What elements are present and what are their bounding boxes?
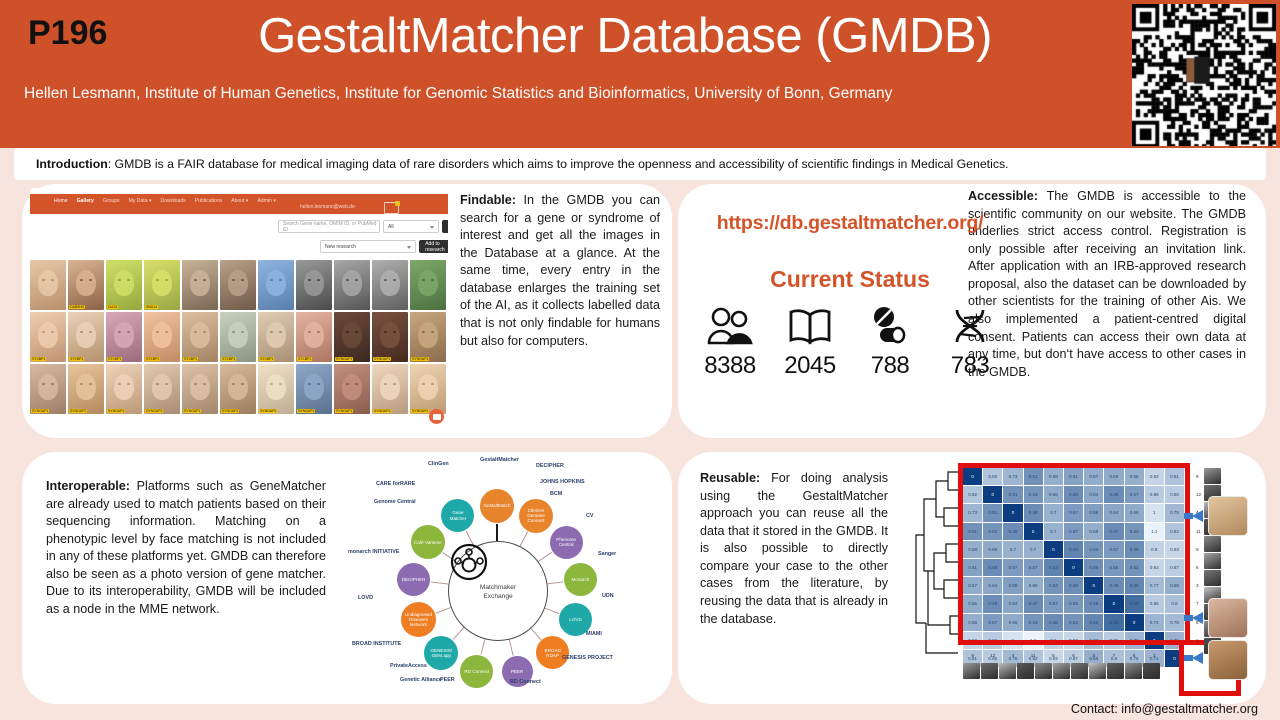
stat-value: 783 (951, 352, 990, 380)
arrow-tail-2 (1184, 615, 1193, 621)
partner-logo-bcm: BCM (550, 492, 562, 498)
gene-label: SYNGAP1 (69, 409, 87, 413)
app-user-menu[interactable]: hellen.lesmann@web.de (300, 204, 355, 210)
eye-shape (203, 383, 206, 385)
face-shape (342, 322, 362, 348)
eye-shape (355, 279, 358, 281)
heatmap-cell: 0.48 (1104, 577, 1123, 594)
gene-label: STXBP1 (145, 357, 160, 361)
gene-label: SYNGAP1 (373, 357, 391, 361)
gene-label: STXBP1 (31, 357, 46, 361)
face-thumbnail (1071, 663, 1088, 679)
heatmap-cell: 0.7 (1003, 541, 1022, 558)
face-shape (342, 374, 362, 400)
partner-logo-genesis-project: GENESIS PROJECT (562, 656, 613, 662)
eye-shape (165, 279, 168, 281)
mme-hub: MatchmakerExchange (448, 541, 548, 641)
heatmap-cell: 0.66 (1104, 468, 1123, 485)
heatmap-col-label: 6 (1064, 653, 1083, 658)
eye-shape (194, 383, 197, 385)
heatmap-cell: 0.64 (1104, 504, 1123, 521)
query-face-2 (1208, 598, 1248, 638)
heatmap-row-label: 5 (1196, 541, 1201, 558)
messages-icon[interactable] (384, 202, 399, 214)
partner-logo-udn: UDN (602, 594, 614, 600)
heatmap-cell: 0.45 (1084, 614, 1103, 631)
eye-shape (127, 279, 130, 281)
face-shape (304, 270, 324, 296)
face-thumbnail (999, 663, 1016, 679)
gene-label: STXBP1 (221, 357, 236, 361)
heatmap-cell: 0.51 (1003, 486, 1022, 503)
gestaltmatcher-heatmap: 00.820.730.510.680.610.670.660.680.920.8… (908, 458, 1256, 698)
face-shape (304, 374, 324, 400)
eye-shape (156, 279, 159, 281)
chat-icon[interactable] (429, 409, 444, 424)
gallery-thumbnail[interactable]: SYNGAP1 (410, 312, 446, 362)
eye-shape (89, 331, 92, 333)
gene-label: SYNGAP1 (31, 409, 49, 413)
eye-shape (346, 383, 349, 385)
gallery-thumbnail[interactable]: SYNGAP1 (68, 364, 104, 414)
eye-shape (422, 279, 425, 281)
eye-shape (89, 383, 92, 385)
heatmap-cell: 0.47 (1024, 595, 1043, 612)
matchmaker-exchange-diagram: MatchmakerExchange GestaltMatchClinGen G… (340, 456, 660, 700)
heatmap-row-label: 7 (1196, 595, 1201, 612)
heatmap-col-label: 11 (1024, 653, 1043, 658)
gallery-thumbnail[interactable]: STXBP1 (182, 312, 218, 362)
face-shape (418, 322, 438, 348)
current-status-title: Current Status (690, 266, 1010, 293)
qr-code-icon[interactable] (1132, 4, 1276, 146)
mme-hub-label: MatchmakerExchange (480, 584, 516, 600)
heatmap-cell: 0.57 (983, 614, 1002, 631)
eye-shape (127, 383, 130, 385)
face-thumbnail (981, 663, 998, 679)
heatmap-cell: 0.66 (963, 595, 982, 612)
heatmap-cell: 0.82 (983, 468, 1002, 485)
heatmap-row-label: 1 (1196, 632, 1201, 649)
stat-value: 8388 (704, 352, 755, 380)
partner-logo-miami: MIAMI (586, 632, 602, 638)
eye-shape (431, 331, 434, 333)
heatmap-cell: 0.59 (1003, 577, 1022, 594)
mme-node-phenome-central[interactable]: Phenome Central (550, 526, 583, 559)
partner-logo-care-forrare: CARE forRARE (376, 482, 415, 488)
face-shape (190, 270, 210, 296)
heatmap-cell: 0.86 (983, 632, 1002, 649)
eye-shape (165, 383, 168, 385)
face-shape (76, 374, 96, 400)
face-shape (342, 270, 362, 296)
heatmap-cell: 0 (1024, 523, 1043, 540)
research-select[interactable]: New research (320, 240, 416, 253)
app-nav-home[interactable]: Home (54, 198, 68, 204)
gallery-thumbnail[interactable]: STXBP1 (144, 312, 180, 362)
heatmap-cell: 1 (1003, 632, 1022, 649)
partner-logo-genetic-alliance: Genetic Alliance (400, 678, 442, 684)
gallery-thumbnail[interactable]: SYNGAP1 (410, 364, 446, 414)
app-nav-my-data[interactable]: My Data ▾ (129, 198, 152, 204)
eye-shape (51, 331, 54, 333)
gene-label: SYNGAP1 (183, 409, 201, 413)
heatmap-cell: 0.7 (1024, 541, 1043, 558)
face-shape (418, 270, 438, 296)
heatmap-cell: 0 (963, 468, 982, 485)
heatmap-cell: 0 (1044, 541, 1063, 558)
search-input[interactable]: Search Gene name, OMIM ID, or PubMed ID (278, 220, 380, 233)
app-navbar: HomeGalleryGroupsMy Data ▾DownloadsPubli… (30, 194, 448, 214)
mme-node-undiagnosed-diseases-network[interactable]: Undiagnosed Diseases Network (401, 602, 436, 637)
heatmap-cell: 0.48 (1044, 614, 1063, 631)
heatmap-cell: 0.68 (1125, 468, 1144, 485)
eye-shape (241, 331, 244, 333)
eye-shape (308, 279, 311, 281)
eye-shape (346, 331, 349, 333)
partner-logo-monarch-initiative: monarch INITIATIVE (348, 550, 399, 556)
face-shape (266, 322, 286, 348)
heatmap-cell: 0.29 (1104, 614, 1123, 631)
gallery-thumbnail[interactable] (410, 260, 446, 310)
heatmap-row-label: 9 (1196, 468, 1201, 485)
gallery-thumbnail[interactable] (258, 260, 294, 310)
gene-label: SYNGAP1 (221, 409, 239, 413)
heatmap-row-label: 12 (1196, 486, 1201, 503)
eye-shape (42, 383, 45, 385)
gene-label: STXBP1 (259, 357, 274, 361)
dna-icon (949, 302, 991, 350)
face-shape (114, 374, 134, 400)
heatmap-cell: 0.7 (1044, 504, 1063, 521)
heatmap-cell: 0.66 (983, 541, 1002, 558)
mme-node-clingen-genome-connect[interactable]: ClinGen Genome Connect (519, 499, 553, 533)
heatmap-cell: 0.64 (983, 577, 1002, 594)
face-shape (114, 270, 134, 296)
contact-footer: Contact: info@gestaltmatcher.org (1071, 702, 1258, 716)
heatmap-grid: 00.820.730.510.680.610.670.660.680.920.8… (963, 468, 1184, 667)
arrow-icon-3 (1192, 652, 1203, 664)
introduction-label: Introduction (36, 157, 108, 171)
heatmap-cell: 0.93 (1145, 559, 1164, 576)
heatmap-row-label: 3 (1196, 577, 1201, 594)
eye-shape (279, 331, 282, 333)
heatmap-cell: 0 (1084, 577, 1103, 594)
add-to-research-button[interactable]: Add to research (419, 240, 448, 253)
database-url-link[interactable]: https://db.gestaltmatcher.org/ (690, 212, 1010, 235)
eye-shape (118, 331, 121, 333)
heatmap-col-label: 7 (1104, 653, 1123, 658)
people-icon (706, 302, 754, 350)
gene-label: SYNGAP1 (259, 409, 277, 413)
app-nav-about[interactable]: About ▾ (231, 198, 248, 204)
heatmap-cell: 0.66 (1044, 486, 1063, 503)
mme-node-caf-variome[interactable]: Café Variome (411, 525, 445, 559)
heatmap-cell: 0.68 (1084, 523, 1103, 540)
heatmap-cell: 0.53 (1024, 614, 1043, 631)
heatmap-cell: 0.47 (1104, 523, 1123, 540)
heatmap-cell: 0.57 (1125, 486, 1144, 503)
heatmap-cell: 0.61 (963, 559, 982, 576)
reusable-text: Reusable: For doing analysis using the G… (700, 470, 888, 628)
partner-logo-clingen: ClinGen (428, 462, 449, 468)
gallery-thumbnail[interactable]: SYNGAP1 (258, 364, 294, 414)
heatmap-col-label: 8 (1125, 653, 1144, 658)
heatmap-cell: 0.93 (1064, 632, 1083, 649)
face-shape (38, 322, 58, 348)
gene-label: SYNGAP1 (107, 409, 125, 413)
app-nav-downloads[interactable]: Downloads (161, 198, 186, 204)
heatmap-cell: 0.48 (1104, 486, 1123, 503)
interoperable-text: Interoperable: Platforms such as GeneMat… (46, 478, 326, 619)
face-thumbnail (1035, 663, 1052, 679)
eye-shape (80, 331, 83, 333)
eye-shape (279, 383, 282, 385)
face-shape (76, 270, 96, 296)
gene-label: SYNGAP1 (335, 357, 353, 361)
gallery-thumbnail[interactable]: STXBP1 (296, 312, 332, 362)
app-nav-publications[interactable]: Publications (195, 198, 222, 204)
heatmap-cell: 0.67 (963, 577, 982, 594)
face-shape (418, 374, 438, 400)
face-shape (266, 374, 286, 400)
heatmap-cell: 0 (983, 486, 1002, 503)
interoperable-label: Interoperable: (46, 479, 130, 493)
heatmap-cell: 0.51 (983, 504, 1002, 521)
gene-label: SYNGAP1 (335, 409, 353, 413)
heatmap-col-label: 12 (983, 653, 1002, 658)
gallery-grid: DAB9HDDLD4SNX14STXBP1STXBP1STXBP1STXBP1S… (30, 260, 448, 414)
query-face-1 (1208, 496, 1248, 536)
heatmap-cell: 0.92 (1145, 468, 1164, 485)
query-face-3 (1208, 640, 1248, 680)
mme-node-gestaltmatch[interactable]: GestaltMatch (480, 489, 514, 523)
face-shape (228, 322, 248, 348)
poster-root: P196 GestaltMatcher Database (GMDB) Hell… (0, 0, 1280, 720)
face-shape (152, 374, 172, 400)
findable-label: Findable: (460, 193, 516, 207)
heatmap-col-label: 3 (1084, 653, 1103, 658)
heatmap-cell: 0.57 (1044, 595, 1063, 612)
face-shape (380, 270, 400, 296)
face-shape (114, 322, 134, 348)
heatmap-cell: 0.53 (1125, 523, 1144, 540)
arrow-icon-2 (1192, 612, 1203, 624)
face-thumbnail (1204, 553, 1221, 569)
heatmap-cell: 0.92 (963, 632, 982, 649)
heatmap-cell: 0.68 (963, 614, 982, 631)
eye-shape (42, 331, 45, 333)
mme-node-monarch[interactable]: Monarch (564, 563, 597, 596)
heatmap-cell: 0.86 (1165, 486, 1184, 503)
gallery-thumbnail[interactable] (220, 260, 256, 310)
heatmap-cell: 0.53 (983, 523, 1002, 540)
gallery-thumbnail[interactable]: DLD4 (106, 260, 142, 310)
arrow-tail-3 (1184, 655, 1193, 661)
eye-shape (118, 279, 121, 281)
heatmap-cell: 0.49 (1084, 559, 1103, 576)
gallery-thumbnail[interactable]: STXBP1 (68, 312, 104, 362)
status-stats: 83882045788783 (690, 302, 1010, 380)
partner-logo-johns-hopkins: JOHNS HOPKINS (540, 480, 585, 486)
gallery-thumbnail[interactable] (182, 260, 218, 310)
face-shape (152, 270, 172, 296)
gallery-thumbnail[interactable] (334, 260, 370, 310)
mme-node-genesis-gem-app[interactable]: GENESIS/ GEM.app (424, 636, 458, 670)
heatmap-cell: 0.82 (963, 486, 982, 503)
heatmap-cell: 0.55 (1104, 559, 1123, 576)
eye-shape (89, 279, 92, 281)
gallery-thumbnail[interactable] (372, 260, 408, 310)
gallery-thumbnail[interactable]: STXBP1 (106, 312, 142, 362)
gene-label: DLD4 (107, 305, 118, 309)
eye-shape (241, 279, 244, 281)
heatmap-cell: 0.66 (1125, 504, 1144, 521)
heatmap-cell: 0.73 (1003, 468, 1022, 485)
eye-shape (270, 331, 273, 333)
eye-shape (317, 279, 320, 281)
app-nav-gallery[interactable]: Gallery (77, 198, 94, 204)
gallery-thumbnail[interactable]: SYNGAP1 (372, 312, 408, 362)
app-nav-admin[interactable]: Admin ▾ (258, 198, 276, 204)
dendrogram (908, 463, 960, 663)
heatmap-cell: 0 (1003, 504, 1022, 521)
gallery-thumbnail[interactable] (296, 260, 332, 310)
eye-shape (431, 383, 434, 385)
heatmap-cell: 0.68 (1165, 577, 1184, 594)
gallery-thumbnail[interactable] (30, 260, 66, 310)
heatmap-cell: 0.48 (1125, 541, 1144, 558)
heatmap-cell: 0 (1125, 614, 1144, 631)
face-thumbnail (1089, 663, 1106, 679)
pills-icon (867, 302, 913, 350)
heatmap-cell: 0.68 (963, 541, 982, 558)
heatmap-cell: 0.68 (1024, 577, 1043, 594)
introduction-card: Introduction: GMDB is a FAIR database fo… (14, 148, 1266, 180)
heatmap-cell: 0.57 (1104, 541, 1123, 558)
heatmap-cell: 1.1 (1145, 523, 1164, 540)
eye-shape (80, 279, 83, 281)
gallery-thumbnail[interactable]: STXBP1 (220, 312, 256, 362)
findable-body: In the GMDB you can search for a gene or… (460, 193, 660, 348)
partner-logo-sanger: Sanger (598, 552, 616, 558)
heatmap-cell: 0.86 (1145, 486, 1164, 503)
heatmap-cell: 0.57 (1064, 504, 1083, 521)
heatmap-cell: 0.29 (1125, 595, 1144, 612)
eye-shape (308, 383, 311, 385)
partner-logo-broad-institute: BROAD INSTITUTE (352, 642, 401, 648)
face-shape (190, 322, 210, 348)
gallery-thumbnail[interactable]: SYNGAP1 (334, 312, 370, 362)
face-shape (190, 374, 210, 400)
eye-shape (355, 383, 358, 385)
gallery-thumbnail[interactable]: SNX14 (144, 260, 180, 310)
arrow-icon-1 (1192, 510, 1203, 522)
gallery-thumbnail[interactable]: SYNGAP1 (106, 364, 142, 414)
gene-label: SYNGAP1 (145, 409, 163, 413)
gallery-thumbnail[interactable]: SYNGAP1 (182, 364, 218, 414)
heatmap-cell: 0 (1064, 559, 1083, 576)
heatmap-cell: 0.76 (1165, 614, 1184, 631)
search-filter-select[interactable]: All (383, 220, 439, 233)
gene-label: STXBP1 (183, 357, 198, 361)
badge-dot (395, 201, 400, 206)
face-thumbnail (1143, 663, 1160, 679)
heatmap-cell: 0.86 (1145, 595, 1164, 612)
heatmap-cell: 0.52 (1125, 559, 1144, 576)
heatmap-col-label: 4 (1003, 653, 1022, 658)
eye-shape (165, 331, 168, 333)
heatmap-cell: 0.64 (1003, 595, 1022, 612)
eye-shape (127, 331, 130, 333)
heatmap-cell: 0.86 (1104, 632, 1123, 649)
gallery-thumbnail[interactable]: SYNGAP1 (334, 364, 370, 414)
heatmap-cell: 0 (1145, 632, 1164, 649)
heatmap-row-labels: 9124115637812 (1196, 468, 1201, 667)
heatmap-cell: 0.67 (1084, 468, 1103, 485)
heatmap-cell: 0.7 (1044, 523, 1063, 540)
gallery-thumbnail[interactable]: STXBP1 (258, 312, 294, 362)
gene-label: SNX14 (145, 305, 158, 309)
arrow-tail-1 (1184, 513, 1193, 519)
heatmap-row-label: 6 (1196, 559, 1201, 576)
heatmap-cell: 0.8 (1165, 595, 1184, 612)
partner-logo-cv: CV (586, 514, 594, 520)
gene-label: DAB9HD (69, 305, 85, 309)
heatmap-col-labels: 9124115637812 (963, 653, 1184, 658)
heatmap-cell: 0.48 (1084, 595, 1103, 612)
stat-value: 788 (871, 352, 910, 380)
heatmap-cell: 0.73 (963, 504, 982, 521)
eye-shape (51, 383, 54, 385)
page-title: GestaltMatcher Database (GMDB) (130, 8, 1120, 64)
face-thumbnail (1125, 663, 1142, 679)
gallery-thumbnail[interactable]: DAB9HD (68, 260, 104, 310)
gene-label: SYNGAP1 (411, 357, 429, 361)
eye-shape (384, 383, 387, 385)
poster-id: P196 (28, 14, 107, 53)
gallery-thumbnail[interactable]: SYNGAP1 (144, 364, 180, 414)
gallery-thumbnail[interactable]: SYNGAP1 (30, 364, 66, 414)
heatmap-col-label: 2 (1165, 653, 1184, 658)
gene-label: SYNGAP1 (297, 409, 315, 413)
gene-label: SYNGAP1 (411, 409, 429, 413)
eye-shape (194, 331, 197, 333)
eye-shape (156, 383, 159, 385)
eye-shape (51, 279, 54, 281)
partner-logo-privateaccess: PrivateAccess (390, 664, 427, 670)
eye-shape (317, 331, 320, 333)
app-nav-groups[interactable]: Groups (103, 198, 120, 204)
gene-label: STXBP1 (69, 357, 84, 361)
gallery-thumbnail[interactable]: STXBP1 (30, 312, 66, 362)
gallery-thumbnail[interactable]: SYNGAP1 (220, 364, 256, 414)
search-button[interactable]: Search (442, 220, 448, 233)
face-shape (228, 374, 248, 400)
heatmap-cell: 0.48 (983, 559, 1002, 576)
partner-logo-gestaltmatcher: GestaltMatcher (480, 458, 519, 464)
heatmap-cell: 0.82 (1165, 523, 1184, 540)
face-thumbnail (1107, 663, 1124, 679)
gallery-thumbnail[interactable]: SYNGAP1 (296, 364, 332, 414)
eye-shape (80, 383, 83, 385)
heatmap-cell: 0.52 (1064, 614, 1083, 631)
heatmap-cell: 0.57 (1003, 559, 1022, 576)
eye-shape (393, 383, 396, 385)
gallery-thumbnail[interactable]: SYNGAP1 (372, 364, 408, 414)
heatmap-cell: 0.53 (1044, 577, 1063, 594)
heatmap-row-label: 11 (1196, 523, 1201, 540)
